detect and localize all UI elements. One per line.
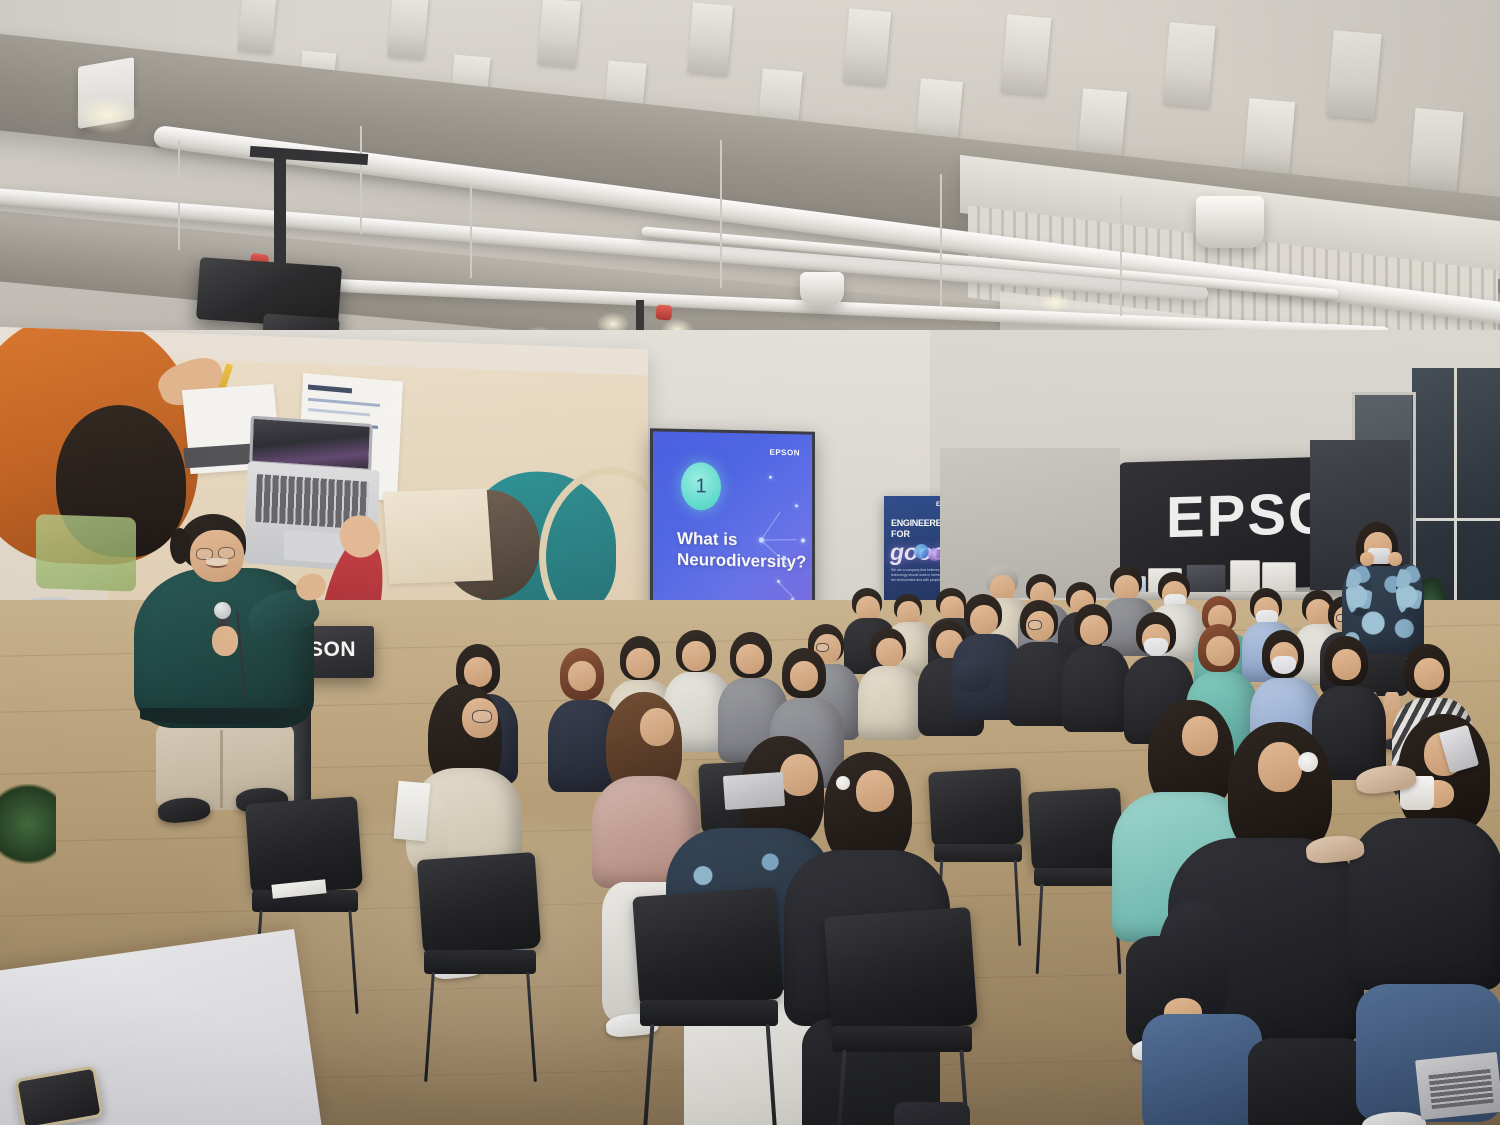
- acoustic-baffle: [1409, 108, 1464, 192]
- presenter: [128, 502, 318, 832]
- presenter-top-hem: [140, 708, 300, 724]
- glasses-icon: [472, 710, 492, 723]
- pipe-hanger: [940, 174, 942, 306]
- projection-screen: 1 What is Neurodiversity? EPSON: [650, 428, 815, 611]
- face-mask-icon: [1144, 638, 1168, 656]
- lamp-glow: [1040, 292, 1070, 312]
- lamp-glow: [74, 96, 140, 134]
- slide-surface: 1 What is Neurodiversity? EPSON: [653, 431, 812, 608]
- acoustic-baffle: [1001, 14, 1052, 96]
- presenter-hand: [212, 626, 238, 656]
- glasses-icon: [1028, 620, 1042, 630]
- banner-line-2: FOR: [891, 529, 910, 539]
- microphone-head-icon: [214, 602, 231, 619]
- plant-icon: [0, 784, 56, 864]
- presentation-room-photo: 1 What is Neurodiversity? EPSON EPSON: [0, 0, 1500, 1125]
- acoustic-baffle: [387, 0, 428, 59]
- pipe-hanger: [470, 186, 472, 278]
- glasses-icon: [816, 643, 829, 652]
- laptop-icon[interactable]: [723, 772, 785, 810]
- pipe-hanger: [1120, 196, 1122, 316]
- backpack: [894, 1102, 970, 1125]
- ceiling-speaker-icon: [800, 272, 844, 306]
- hair-clip: [836, 776, 850, 790]
- pipe-hanger: [178, 140, 180, 250]
- handout-paper: [394, 781, 431, 842]
- product-box: [1230, 560, 1260, 592]
- slide-number-badge: 1: [681, 462, 721, 511]
- acoustic-baffle: [1326, 30, 1381, 120]
- face-mask-icon: [1272, 656, 1296, 674]
- acoustic-baffle: [843, 8, 891, 85]
- ceiling-speaker-icon: [1196, 196, 1264, 248]
- slide-epson-logo: EPSON: [769, 448, 800, 458]
- acoustic-baffle: [1163, 22, 1216, 108]
- partition-wall: [940, 448, 1120, 598]
- acoustic-baffle: [687, 2, 733, 75]
- hair-clip: [1298, 752, 1318, 772]
- acoustic-baffle: [537, 0, 581, 68]
- presenter-face: [190, 530, 244, 582]
- acoustic-baffle: [238, 0, 277, 53]
- acoustic-baffle: [1243, 98, 1295, 178]
- slide-title: What is Neurodiversity?: [677, 528, 802, 573]
- product-box: [1186, 564, 1226, 594]
- laptop-keyboard[interactable]: [1428, 1067, 1493, 1109]
- presenter-hair-bun: [170, 528, 190, 564]
- pipe-hanger: [360, 126, 362, 234]
- presenter-pants-seam: [220, 730, 223, 808]
- presenter-smile: [206, 558, 228, 568]
- pipe-hanger: [720, 140, 722, 288]
- projector-mount: [274, 152, 286, 264]
